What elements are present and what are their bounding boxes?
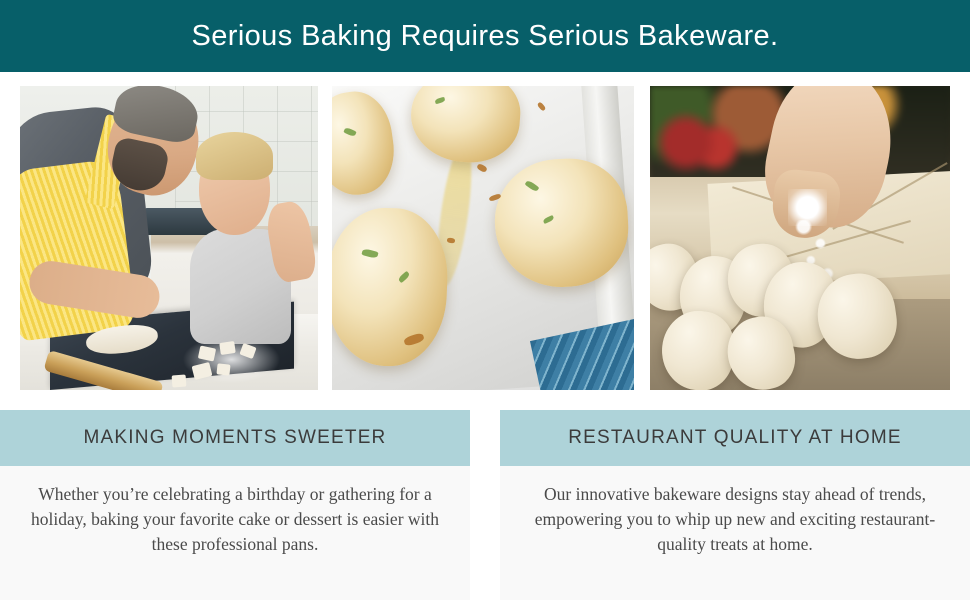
feature-heading-right: RESTAURANT QUALITY AT HOME bbox=[568, 427, 902, 449]
cookie-cutout bbox=[216, 363, 230, 375]
cookie-cutout bbox=[198, 345, 216, 361]
cookie-cutout bbox=[172, 374, 187, 387]
cookie-cutout bbox=[219, 341, 236, 355]
feature-body-right: Our innovative bakeware designs stay ahe… bbox=[500, 466, 970, 557]
photo-cheesy-herb-rolls-on-sheet-pan bbox=[332, 86, 634, 390]
feature-heading-left: MAKING MOMENTS SWEETER bbox=[84, 427, 387, 449]
feature-column-restaurant-quality-at-home: RESTAURANT QUALITY AT HOME Our innovativ… bbox=[500, 410, 970, 600]
header-banner: Serious Baking Requires Serious Bakeware… bbox=[0, 0, 970, 72]
feature-body-text-left: Whether you’re celebrating a birthday or… bbox=[26, 482, 444, 557]
feature-column-making-moments-sweeter: MAKING MOMENTS SWEETER Whether you’re ce… bbox=[0, 410, 470, 600]
feature-columns: MAKING MOMENTS SWEETER Whether you’re ce… bbox=[0, 402, 970, 600]
photo-hand-sprinkling-flour-on-dough bbox=[650, 86, 950, 390]
feature-heading-bar-right: RESTAURANT QUALITY AT HOME bbox=[500, 410, 970, 466]
page-title: Serious Baking Requires Serious Bakeware… bbox=[191, 20, 778, 53]
feature-body-text-right: Our innovative bakeware designs stay ahe… bbox=[526, 482, 944, 557]
photo-gallery bbox=[0, 72, 970, 402]
feature-heading-bar-left: MAKING MOMENTS SWEETER bbox=[0, 410, 470, 466]
product-feature-page: Serious Baking Requires Serious Bakeware… bbox=[0, 0, 970, 600]
feature-body-left: Whether you’re celebrating a birthday or… bbox=[0, 466, 470, 557]
photo-father-and-child-baking-cookies bbox=[20, 86, 318, 390]
child-hair bbox=[196, 132, 273, 181]
